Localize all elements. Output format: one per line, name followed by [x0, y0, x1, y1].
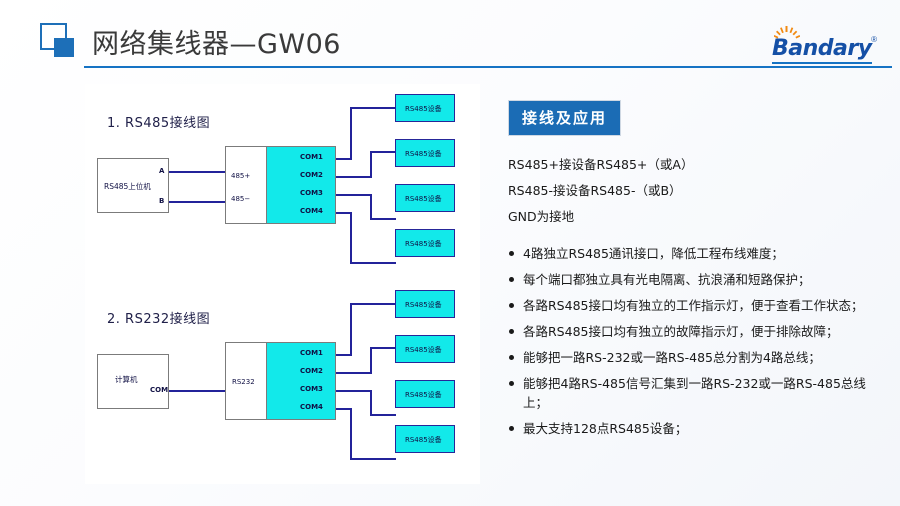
spec-line: RS485+接设备RS485+（或A）	[508, 152, 888, 178]
brand-underline	[772, 62, 872, 64]
rs232-wire-com1-v	[350, 304, 352, 356]
rs485-device-2-label: RS485设备	[405, 149, 442, 159]
rs485-hub-pin-485minus: 485−	[231, 195, 250, 203]
rs232-wire-com2-h1	[336, 372, 372, 374]
list-item: 各路RS485接口均有独立的故障指示灯，便于排除故障；	[508, 322, 888, 341]
rs485-wire-a	[169, 171, 225, 173]
brand-registered-mark: ®	[871, 35, 877, 44]
bullet-dot-icon	[509, 381, 514, 386]
section-badge: 接线及应用	[508, 100, 621, 136]
rs485-wire-com1-h2	[350, 107, 396, 109]
bullet-dot-icon	[509, 426, 514, 431]
rs232-wire-com1-h2	[350, 303, 396, 305]
list-item: 最大支持128点RS485设备；	[508, 419, 888, 438]
header-divider	[84, 66, 892, 68]
rs232-wire-com3-v	[370, 390, 372, 416]
rs232-device-3-label: RS485设备	[405, 390, 442, 400]
list-item-label: 各路RS485接口均有独立的工作指示灯，便于查看工作状态；	[523, 298, 863, 313]
rs232-device-4-label: RS485设备	[405, 435, 442, 445]
rs232-wire-com4-v	[350, 408, 352, 460]
rs232-wire-com3-h2	[370, 414, 396, 416]
rs485-hub-com3: COM3	[300, 189, 323, 197]
rs485-wire-com2-v	[370, 152, 372, 178]
spec-list: RS485+接设备RS485+（或A） RS485-接设备RS485-（或B） …	[508, 152, 888, 230]
logo-square-solid	[54, 38, 74, 57]
rs485-wire-com2-h1	[336, 176, 372, 178]
spec-line: RS485-接设备RS485-（或B）	[508, 178, 888, 204]
list-item-label: 能够把一路RS-232或一路RS-485总分割为4路总线；	[523, 350, 821, 365]
list-item-label: 最大支持128点RS485设备；	[523, 421, 687, 436]
rs485-hub-left	[225, 146, 267, 224]
diagram-panel: 1. RS485接线图 RS485上位机 A B 485+ 485− COM1 …	[85, 84, 480, 484]
rs232-host-label: 计算机	[115, 374, 138, 385]
bullet-dot-icon	[509, 329, 514, 334]
diagram-rs485-title: 1. RS485接线图	[107, 112, 210, 131]
rs232-wire-com2-h2	[370, 347, 396, 349]
rs232-hub-com4: COM4	[300, 403, 323, 411]
rs232-hub-com2: COM2	[300, 367, 323, 375]
rs485-wire-b	[169, 201, 225, 203]
rs232-hub-com3: COM3	[300, 385, 323, 393]
feature-bullet-list: 4路独立RS485通讯接口，降低工程布线难度； 每个端口都独立具有光电隔离、抗浪…	[508, 244, 888, 438]
rs485-host-pin-a: A	[159, 167, 164, 175]
diagram-rs232-title: 2. RS232接线图	[107, 308, 210, 327]
rs485-wire-com4-v	[350, 212, 352, 264]
rs232-wire-com2-v	[370, 348, 372, 374]
rs485-host-pin-b: B	[159, 197, 164, 205]
brand-name: Bandary	[772, 36, 872, 61]
list-item-label: 各路RS485接口均有独立的故障指示灯，便于排除故障；	[523, 324, 838, 339]
rs232-wire-com	[169, 390, 225, 392]
list-item-label: 能够把4路RS-485信号汇集到一路RS-232或一路RS-485总线上；	[523, 376, 866, 410]
list-item: 每个端口都独立具有光电隔离、抗浪涌和短路保护；	[508, 270, 888, 289]
diagram-rs232: 2. RS232接线图 计算机 COM RS232 COM1 COM2 COM3…	[85, 280, 480, 480]
rs485-device-4-label: RS485设备	[405, 239, 442, 249]
diagram-rs485: 1. RS485接线图 RS485上位机 A B 485+ 485− COM1 …	[85, 84, 480, 284]
rs485-host-label: RS485上位机	[104, 181, 151, 192]
list-item: 各路RS485接口均有独立的工作指示灯，便于查看工作状态；	[508, 296, 888, 315]
rs232-hub-com1: COM1	[300, 349, 323, 357]
rs232-host-pin-com: COM	[150, 386, 168, 394]
rs232-wire-com4-h2	[350, 458, 396, 460]
rs485-wire-com3-v	[370, 194, 372, 220]
rs485-wire-com3-h1	[336, 194, 372, 196]
list-item: 4路独立RS485通讯接口，降低工程布线难度；	[508, 244, 888, 263]
slide-root: 网络集线器—GW06 Bandary ® 1. RS48	[0, 0, 900, 506]
rs485-wire-com1-v	[350, 108, 352, 160]
right-column: 接线及应用 RS485+接设备RS485+（或A） RS485-接设备RS485…	[508, 100, 888, 445]
rs485-hub-com4: COM4	[300, 207, 323, 215]
bullet-dot-icon	[509, 355, 514, 360]
rs485-wire-com2-h2	[370, 151, 396, 153]
list-item: 能够把一路RS-232或一路RS-485总分割为4路总线；	[508, 348, 888, 367]
spec-line: GND为接地	[508, 204, 888, 230]
list-item: 能够把4路RS-485信号汇集到一路RS-232或一路RS-485总线上；	[508, 374, 888, 412]
rs232-device-2-label: RS485设备	[405, 345, 442, 355]
list-item-label: 4路独立RS485通讯接口，降低工程布线难度；	[523, 246, 784, 261]
bullet-dot-icon	[509, 251, 514, 256]
rs485-hub-com1: COM1	[300, 153, 323, 161]
rs485-hub-com2: COM2	[300, 171, 323, 179]
rs485-device-3-label: RS485设备	[405, 194, 442, 204]
rs485-hub-pin-485plus: 485+	[231, 172, 250, 180]
rs232-hub-pin-rs232: RS232	[232, 378, 255, 386]
rs232-device-1-label: RS485设备	[405, 300, 442, 310]
page-title: 网络集线器—GW06	[92, 22, 341, 61]
square-logo-icon	[40, 23, 74, 57]
slide-header: 网络集线器—GW06 Bandary ®	[0, 0, 900, 78]
brand-logo: Bandary ®	[762, 28, 878, 66]
rs232-wire-com3-h1	[336, 390, 372, 392]
rs485-wire-com3-h2	[370, 218, 396, 220]
bullet-dot-icon	[509, 277, 514, 282]
rs485-device-1-label: RS485设备	[405, 104, 442, 114]
bullet-dot-icon	[509, 303, 514, 308]
list-item-label: 每个端口都独立具有光电隔离、抗浪涌和短路保护；	[523, 272, 811, 287]
rs485-wire-com4-h2	[350, 262, 396, 264]
